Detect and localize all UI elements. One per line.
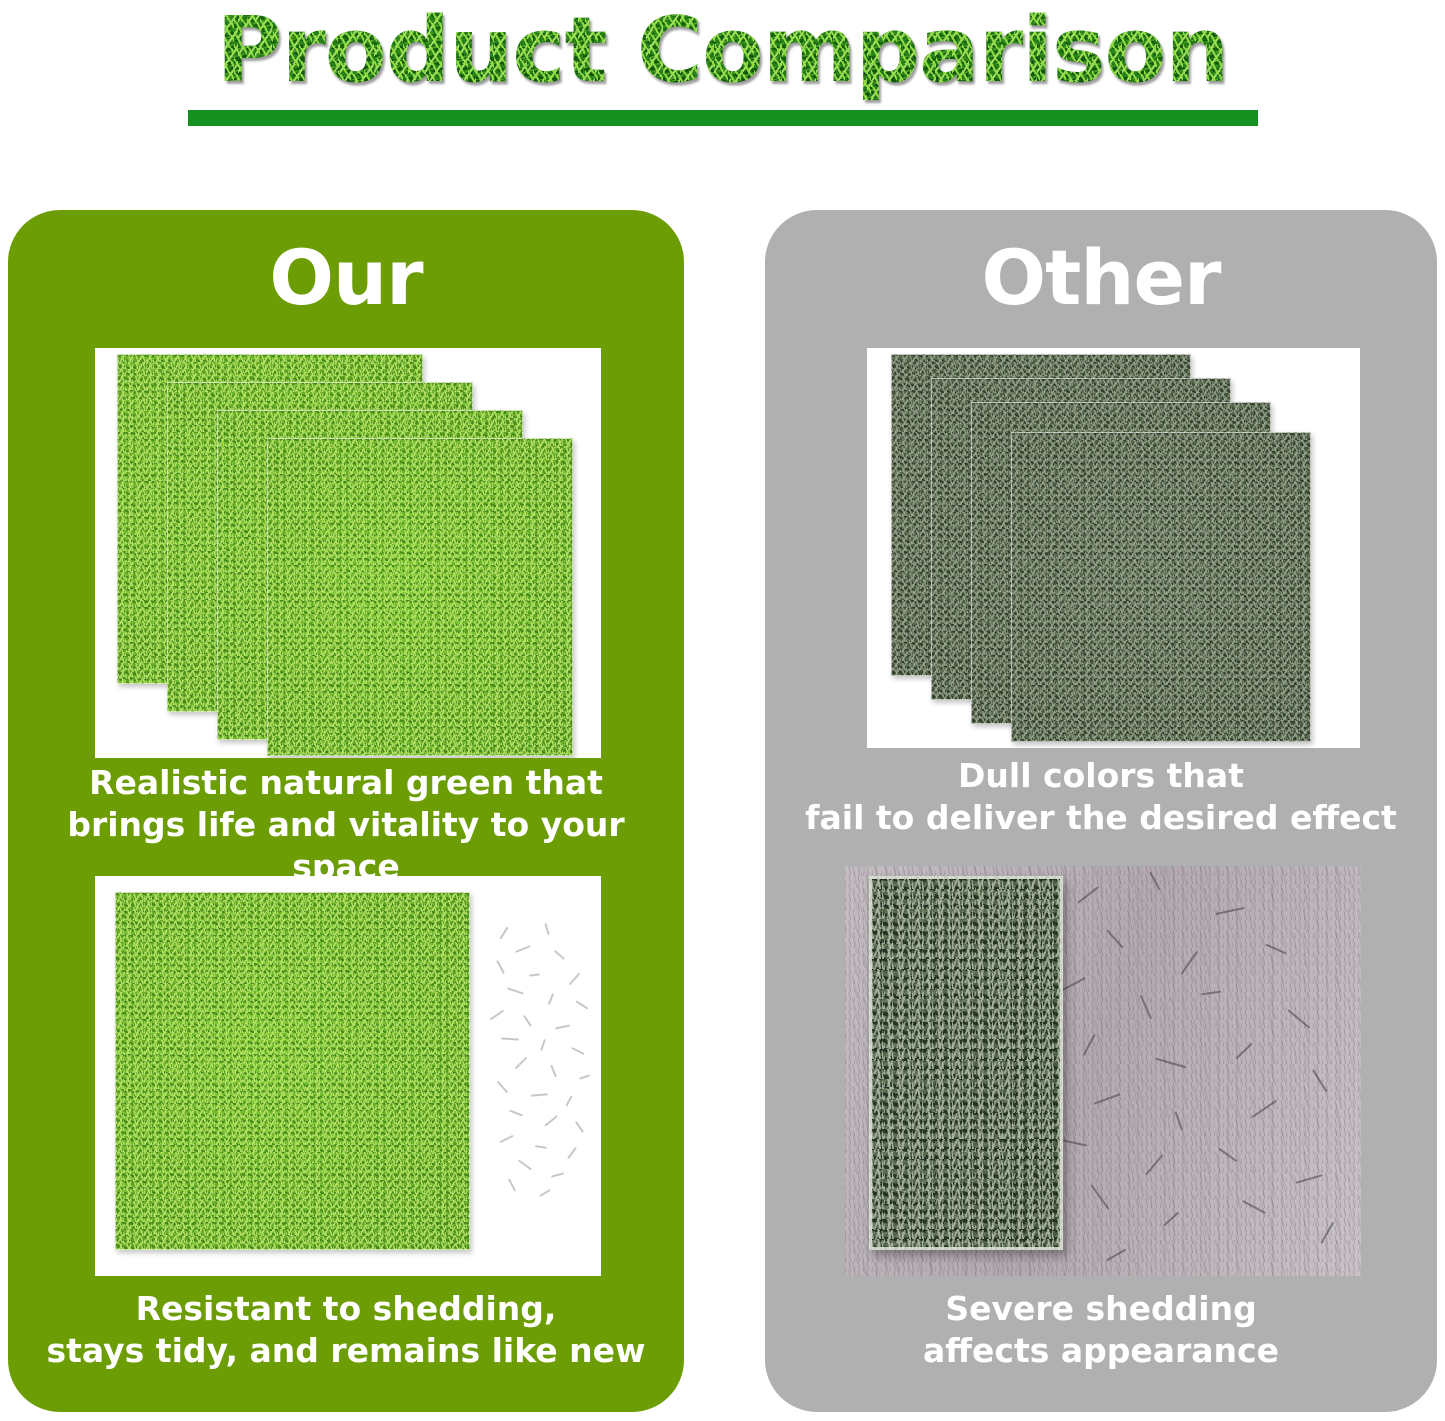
other-bottom-photo-frame [845,866,1361,1276]
page-header: Product Comparison [0,0,1445,140]
title-underline-bar [188,110,1258,126]
dark-green-mat-edge [869,876,1063,1250]
product-comparison-infographic: Product Comparison Our Realistic natural… [0,0,1445,1421]
grass-mat-dull-4 [1011,432,1311,742]
other-top-photo-frame [867,348,1360,748]
our-panel-heading: Our [8,232,684,324]
other-top-caption: Dull colors that fail to deliver the des… [775,755,1427,839]
grass-mat-bright-single [115,892,470,1250]
our-top-caption: Realistic natural green that brings life… [18,762,674,888]
our-top-photo-frame [95,348,601,758]
our-bottom-photo-frame [95,876,601,1276]
our-panel: Our Realistic natural green that brings … [8,210,684,1412]
other-bottom-caption: Severe shedding affects appearance [775,1288,1427,1372]
our-bottom-caption: Resistant to shedding, stays tidy, and r… [18,1288,674,1372]
loose-fibers-group [485,926,595,1206]
grass-mat-bright-4 [267,438,573,756]
page-title: Product Comparison [0,0,1445,106]
other-panel: Other Dull colors that fail to deliver t… [765,210,1437,1412]
other-panel-heading: Other [765,232,1437,324]
